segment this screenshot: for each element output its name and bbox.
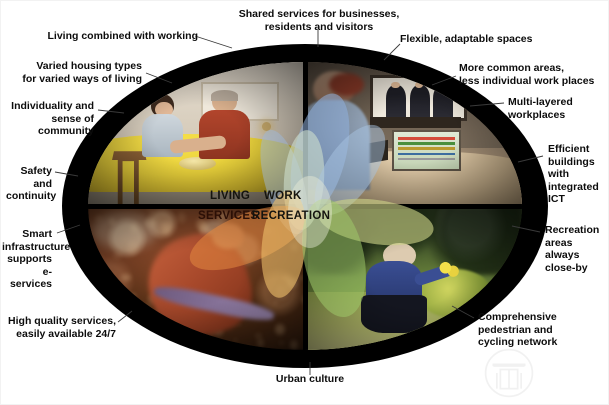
callout-more-common-areas: More common areas, less individual work … [459, 62, 607, 87]
callout-shared-services: Shared services for businesses, resident… [226, 8, 412, 33]
callout-smart-infrastructure: Smart infrastructure supports e-services [2, 228, 52, 291]
callout-recreation-areas: Recreation areas always close-by [545, 224, 607, 274]
callout-living-combined-with-working: Living combined with working [28, 30, 198, 43]
concept-ellipse: LIVING WORK SERVICES RECREATION [62, 44, 548, 368]
callout-multi-layered-workplaces: Multi-layered workplaces [508, 96, 604, 121]
callout-individuality-community: Individuality and sense of community [6, 100, 94, 138]
callout-efficient-buildings-ict: Efficient buildings with integrated ICT [548, 143, 606, 206]
callout-pedestrian-cycling-network: Comprehensive pedestrian and cycling net… [478, 311, 604, 349]
quadrant-divider-horizontal [88, 204, 522, 209]
diagram-canvas: LIVING WORK SERVICES RECREATION [0, 0, 609, 405]
quadrant-services [88, 206, 305, 350]
callout-high-quality-services: High quality services, easily available … [4, 315, 116, 340]
callout-flexible-spaces: Flexible, adaptable spaces [400, 33, 560, 46]
callout-safety-continuity: Safety and continuity [6, 165, 52, 203]
callout-urban-culture: Urban culture [258, 373, 362, 386]
callout-varied-housing-types: Varied housing types for varied ways of … [14, 60, 142, 85]
photo-collage: LIVING WORK SERVICES RECREATION [88, 62, 522, 350]
